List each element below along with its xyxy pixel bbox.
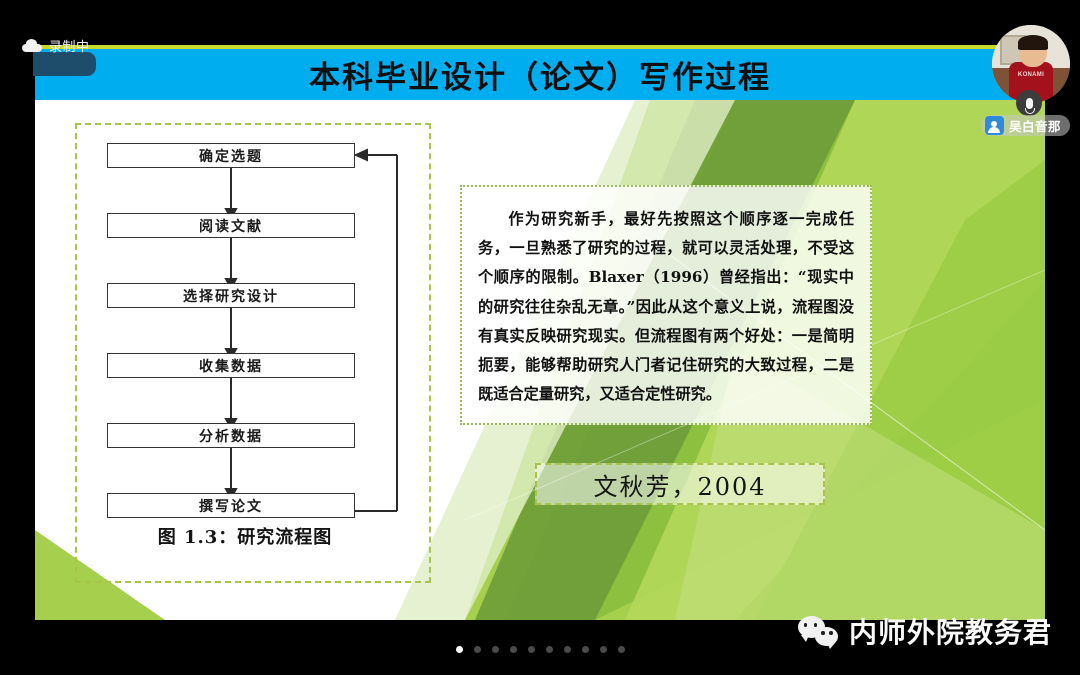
- screen-root: 录制中 本科毕业设计（论文）写作过程: [0, 0, 1080, 675]
- participant-name: 吴白音那: [1009, 116, 1061, 135]
- pagination-dot[interactable]: [564, 646, 571, 653]
- flowchart-caption: 图 1.3：研究流程图: [75, 523, 415, 549]
- flow-step-label: 分析数据: [199, 426, 263, 446]
- pagination-dot[interactable]: [600, 646, 607, 653]
- flow-step-label: 收集数据: [199, 356, 263, 376]
- participant-name-pill[interactable]: 吴白音那: [981, 115, 1070, 136]
- recording-panel: [33, 52, 96, 76]
- citation-text: 文秋芳，2004: [593, 467, 766, 502]
- avatar-shirt-text: KONAMI: [1018, 72, 1044, 78]
- recording-indicator: 录制中: [22, 36, 90, 55]
- flowchart: 确定选题 阅读文献 选择研究设计 收集数据 分析数据 撰写论文 图 1.3：研究…: [75, 123, 431, 583]
- cloud-icon: [22, 39, 42, 52]
- presentation-slide[interactable]: 本科毕业设计（论文）写作过程: [35, 45, 1045, 620]
- flow-step-label: 确定选题: [199, 146, 263, 166]
- pagination-dot[interactable]: [546, 646, 553, 653]
- flow-step-label: 阅读文献: [199, 216, 263, 236]
- flow-step-6[interactable]: 撰写论文: [107, 493, 355, 518]
- body-paragraph: 作为研究新手，最好先按照这个顺序逐一完成任务，一旦熟悉了研究的过程，就可以灵活处…: [478, 205, 854, 409]
- wechat-account-name: 内师外院教务君: [849, 611, 1052, 651]
- body-text-frame: 作为研究新手，最好先按照这个顺序逐一完成任务，一旦熟悉了研究的过程，就可以灵活处…: [460, 185, 872, 425]
- flow-step-5[interactable]: 分析数据: [107, 423, 355, 448]
- avatar-hair: [1018, 35, 1048, 50]
- pagination-dot[interactable]: [510, 646, 517, 653]
- user-icon: [985, 116, 1004, 135]
- flow-step-3[interactable]: 选择研究设计: [107, 283, 355, 308]
- pagination-dot[interactable]: [528, 646, 535, 653]
- mic-icon[interactable]: [1016, 90, 1042, 116]
- pagination-dot[interactable]: [492, 646, 499, 653]
- page-title: 本科毕业设计（论文）写作过程: [309, 52, 771, 97]
- flow-step-1[interactable]: 确定选题: [107, 143, 355, 168]
- flow-step-label: 选择研究设计: [183, 286, 279, 306]
- flow-step-label: 撰写论文: [199, 496, 263, 516]
- pagination-dot[interactable]: [618, 646, 625, 653]
- slide-title-bar: 本科毕业设计（论文）写作过程: [35, 45, 1045, 100]
- citation-box: 文秋芳，2004: [535, 463, 825, 505]
- pagination-dot[interactable]: [456, 646, 463, 653]
- wechat-watermark: 内师外院教务君: [798, 611, 1052, 651]
- wechat-icon: [798, 616, 838, 646]
- flow-step-2[interactable]: 阅读文献: [107, 213, 355, 238]
- flow-step-4[interactable]: 收集数据: [107, 353, 355, 378]
- recording-label: 录制中: [49, 36, 90, 55]
- pagination-dot[interactable]: [582, 646, 589, 653]
- pagination-dot[interactable]: [474, 646, 481, 653]
- pagination-dots[interactable]: [0, 646, 1080, 653]
